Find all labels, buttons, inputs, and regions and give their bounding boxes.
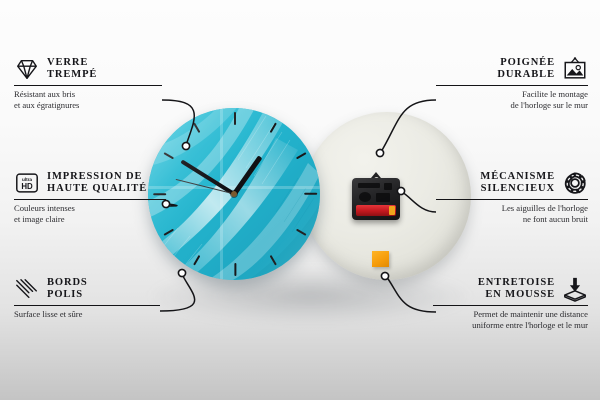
callout-title: IMPRESSION DE HAUTE QUALITÉ xyxy=(47,171,147,196)
clock-face xyxy=(148,108,320,280)
foam-spacer-icon xyxy=(562,276,588,302)
mechanism-body xyxy=(352,178,400,220)
callout-entretoise-en-mousse: ENTRETOISE EN MOUSSE Permet de maintenir… xyxy=(433,276,588,331)
gear-icon xyxy=(562,170,588,196)
callout-mecanisme-silencieux: MÉCANISME SILENCIEUX Les xyxy=(436,170,588,225)
battery xyxy=(356,205,396,216)
callout-subtitle: Les aiguilles de l'horloge ne font aucun… xyxy=(436,203,588,224)
callout-rule xyxy=(436,85,588,86)
callout-impression-haute-qualite: ultra HD IMPRESSION DE HAUTE QUALITÉ Cou… xyxy=(14,170,166,225)
callout-rule xyxy=(433,305,588,306)
picture-hanger-icon xyxy=(562,56,588,82)
callout-rule xyxy=(14,85,162,86)
callout-rule xyxy=(14,305,160,306)
svg-text:HD: HD xyxy=(21,182,33,191)
callout-title: BORDS POLIS xyxy=(47,277,88,302)
callout-subtitle: Couleurs intenses et image claire xyxy=(14,203,166,224)
polished-edge-icon xyxy=(14,276,40,302)
foam-spacer xyxy=(372,251,389,267)
diamond-icon xyxy=(14,56,40,82)
hands-hub xyxy=(231,191,237,197)
callout-subtitle: Résistant aux bris et aux égratignures xyxy=(14,89,162,110)
callout-title: POIGNÉE DURABLE xyxy=(497,57,555,82)
callout-rule xyxy=(14,199,166,200)
ultra-hd-icon: ultra HD xyxy=(14,170,40,196)
product-infographic: VERRE TREMPÉ Résistant aux bris et aux é… xyxy=(0,0,600,400)
clock-mechanism xyxy=(352,178,400,220)
battery-terminal xyxy=(389,206,395,215)
callout-bords-polis: BORDS POLIS Surface lisse et sûre xyxy=(14,276,160,320)
callout-subtitle: Surface lisse et sûre xyxy=(14,309,160,320)
callout-verre-trempe: VERRE TREMPÉ Résistant aux bris et aux é… xyxy=(14,56,162,111)
callout-subtitle: Permet de maintenir une distance uniform… xyxy=(433,309,588,330)
callout-subtitle: Facilite le montage de l'horloge sur le … xyxy=(436,89,588,110)
callout-title: ENTRETOISE EN MOUSSE xyxy=(478,277,555,302)
tick-6 xyxy=(234,263,236,276)
callout-poignee-durable: POIGNÉE DURABLE Facilite le montage de l… xyxy=(436,56,588,111)
callout-title: VERRE TREMPÉ xyxy=(47,57,97,82)
callout-title: MÉCANISME SILENCIEUX xyxy=(480,171,555,196)
callout-rule xyxy=(436,199,588,200)
